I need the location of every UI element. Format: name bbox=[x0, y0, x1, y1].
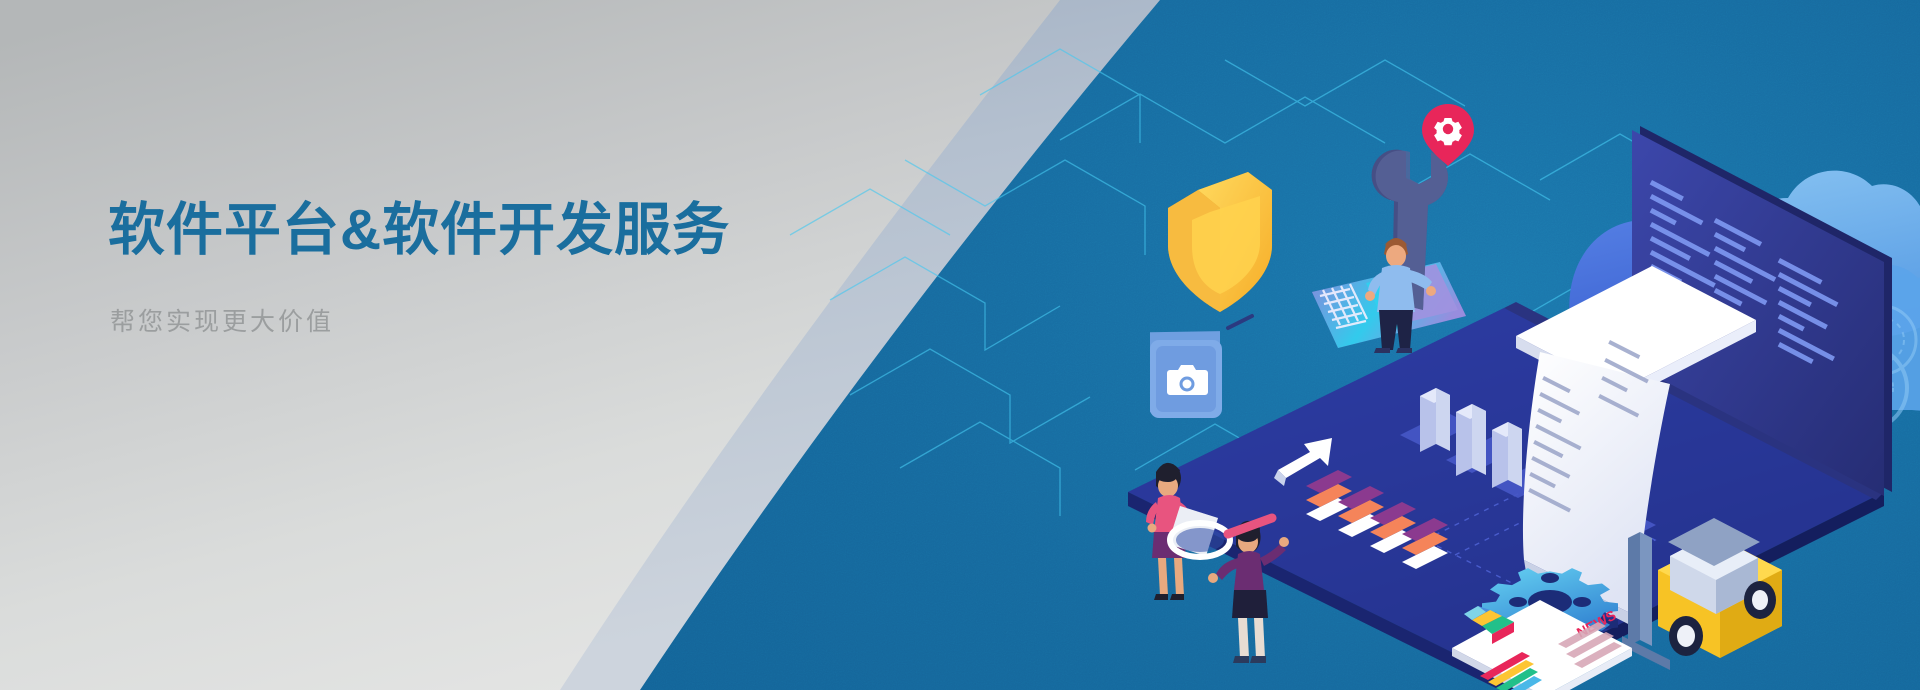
hero-copy: 软件平台&软件开发服务 帮您实现更大价值 bbox=[108, 196, 730, 338]
hero-banner: 软件平台&软件开发服务 帮您实现更大价值 bbox=[0, 0, 1920, 690]
shield-icon bbox=[1168, 172, 1272, 312]
isometric-illustration: NEWS bbox=[880, 40, 1920, 690]
page-title: 软件平台&软件开发服务 bbox=[108, 196, 730, 266]
camera-icon bbox=[1150, 331, 1222, 418]
gear-badge-icon bbox=[1422, 104, 1474, 166]
stylus-icon bbox=[1228, 316, 1252, 328]
page-subtitle: 帮您实现更大价值 bbox=[110, 302, 730, 338]
